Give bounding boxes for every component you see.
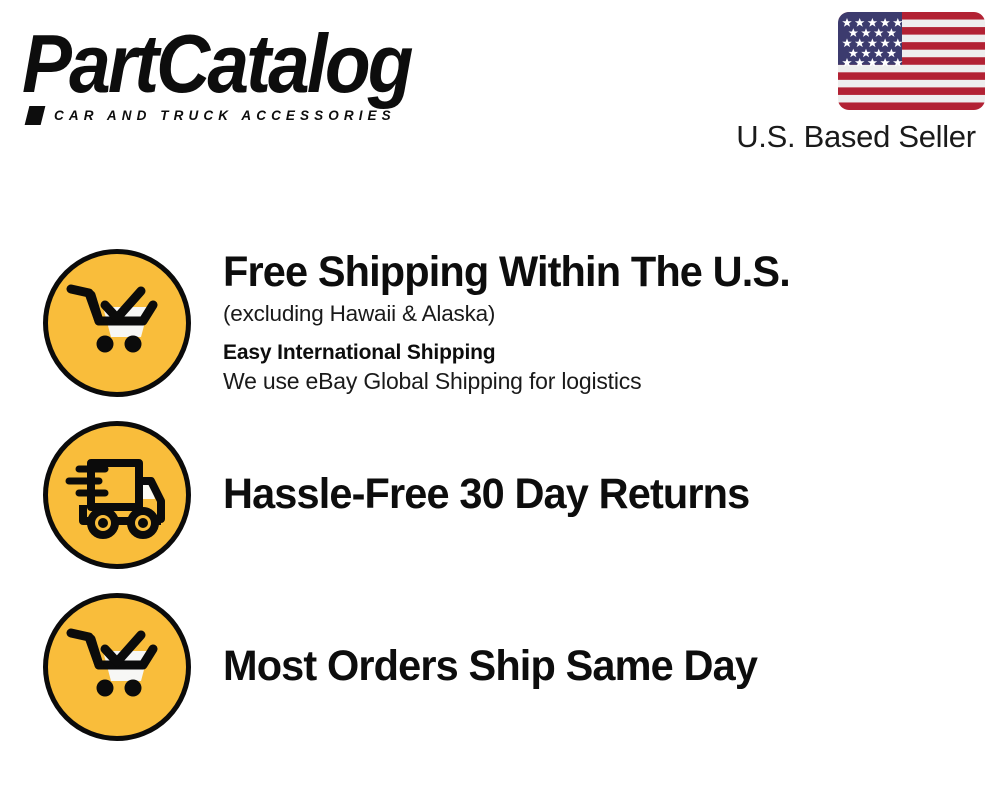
promo-banner: PartCatalog CAR AND TRUCK ACCESSORIES	[0, 0, 1000, 800]
feature-text-block: Hassle-Free 30 Day Returns	[223, 472, 1000, 517]
shopping-cart-check-icon	[43, 593, 191, 741]
feature-title: Most Orders Ship Same Day	[223, 644, 954, 689]
partcatalog-logo[interactable]: PartCatalog CAR AND TRUCK ACCESSORIES	[22, 22, 492, 114]
delivery-truck-icon	[43, 421, 191, 569]
feature-title: Free Shipping Within The U.S.	[223, 250, 954, 295]
feature-row: Hassle-Free 30 Day Returns	[0, 421, 1000, 569]
slash-mark-icon	[25, 106, 46, 125]
feature-subtitle-detail: We use eBay Global Shipping for logistic…	[223, 367, 980, 396]
feature-subtitle: (excluding Hawaii & Alaska)	[223, 300, 980, 328]
shopping-cart-check-icon	[43, 249, 191, 397]
feature-subtitle-strong: Easy International Shipping	[223, 340, 980, 365]
brand-tagline-row: CAR AND TRUCK ACCESSORIES	[27, 106, 396, 125]
feature-row: Free Shipping Within The U.S. (excluding…	[0, 249, 1000, 397]
us-flag-graphic	[838, 12, 985, 110]
delivery-truck-glyph	[65, 443, 169, 547]
us-based-seller-label: U.S. Based Seller	[727, 119, 985, 155]
us-flag-icon	[838, 12, 985, 110]
feature-title: Hassle-Free 30 Day Returns	[223, 472, 954, 517]
feature-text-block: Most Orders Ship Same Day	[223, 644, 1000, 689]
feature-text-block: Free Shipping Within The U.S. (excluding…	[223, 250, 1000, 396]
shopping-cart-check-glyph	[65, 271, 169, 375]
brand-tagline: CAR AND TRUCK ACCESSORIES	[54, 108, 396, 123]
feature-row: Most Orders Ship Same Day	[0, 593, 1000, 741]
brand-wordmark: PartCatalog	[22, 22, 411, 105]
shopping-cart-check-glyph	[65, 615, 169, 719]
